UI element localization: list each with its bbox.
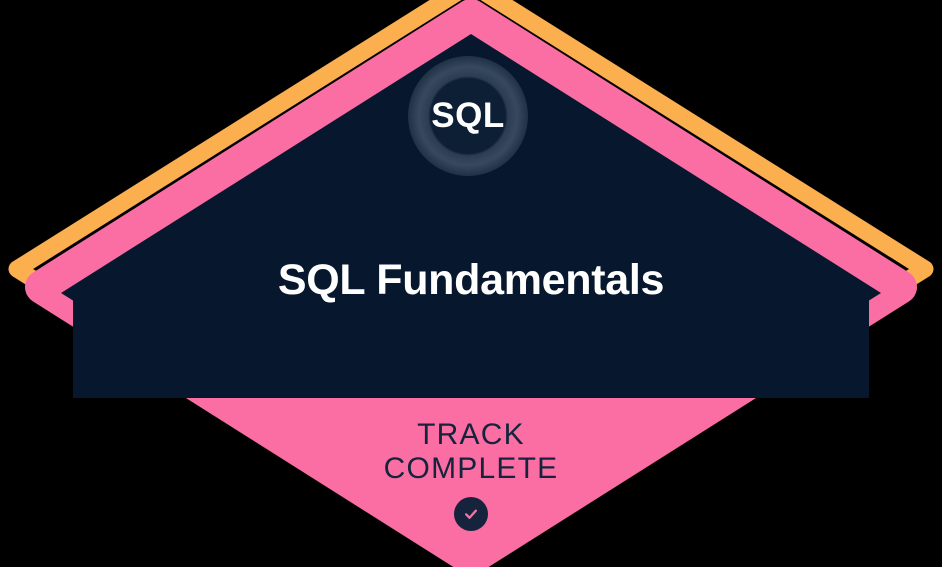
- track-badge-card[interactable]: SQL SQL Fundamentals TRACK COMPLETE: [0, 0, 942, 567]
- sql-tag-label: SQL: [431, 98, 504, 133]
- sql-tag-badge[interactable]: SQL: [408, 56, 528, 176]
- check-mark-glyph: [462, 505, 480, 523]
